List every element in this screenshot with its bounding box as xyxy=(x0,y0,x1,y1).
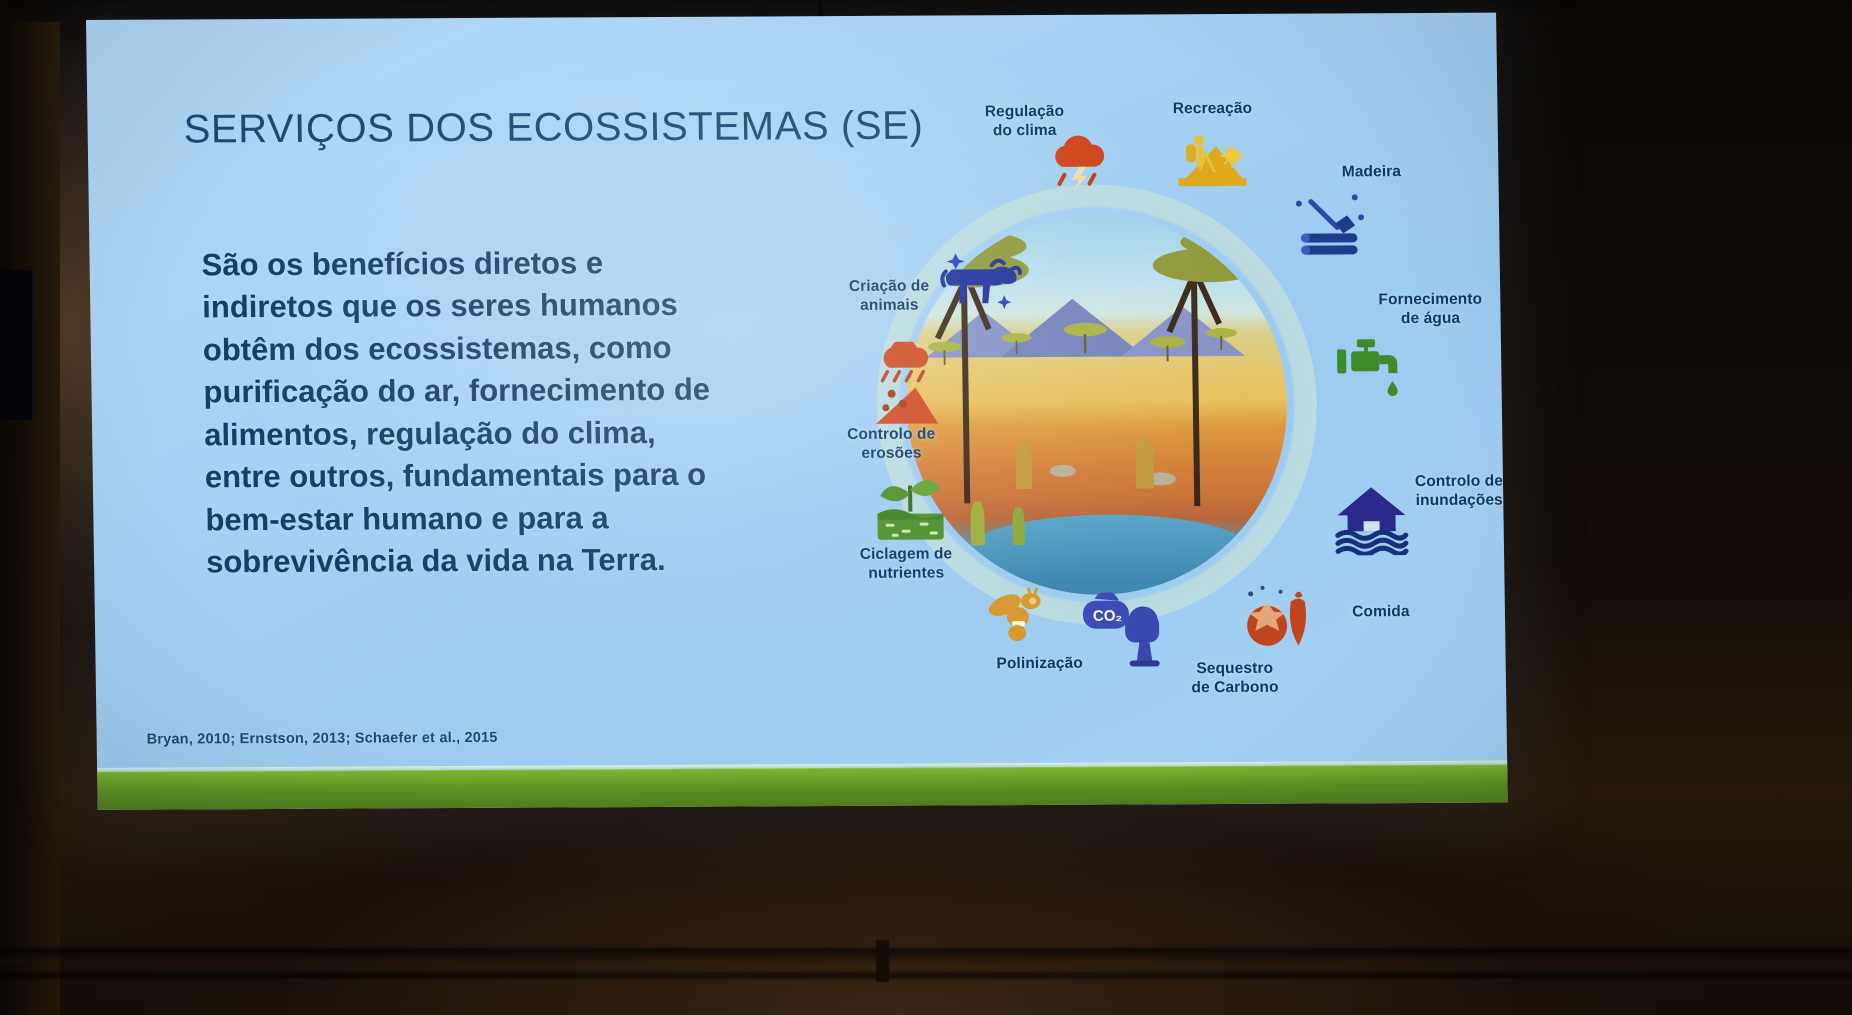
sprout-soil-icon xyxy=(873,471,948,541)
ecosystem-services-diagram: Regulação do clima Recreação xyxy=(727,83,1497,767)
faucet-icon xyxy=(1335,333,1408,397)
rain-erosion-icon xyxy=(871,341,948,425)
wall-left-panel xyxy=(0,0,60,1015)
projection-room: SERVIÇOS DOS ECOSSISTEMAS (SE) São os be… xyxy=(0,0,1852,1015)
projection-screen: SERVIÇOS DOS ECOSSISTEMAS (SE) São os be… xyxy=(86,13,1508,810)
label-recreacao: Recreação xyxy=(1157,100,1267,119)
label-ciclagem-de-nutrientes: Ciclagem de nutrientes xyxy=(842,545,971,583)
label-controlo-de-erosoes: Controlo de erosões xyxy=(830,425,953,463)
flooded-house-icon xyxy=(1333,483,1410,555)
vegetables-icon xyxy=(1242,582,1315,650)
label-polinizacao: Polinização xyxy=(980,655,1100,675)
bee-icon xyxy=(984,583,1055,645)
label-controlo-de-inundacoes: Controlo de inundações xyxy=(1395,472,1508,510)
grass-tuft xyxy=(1135,436,1154,488)
label-criacao-de-animais: Criação de animais xyxy=(828,277,951,315)
citation-text: Bryan, 2010; Ernstson, 2013; Schaefer et… xyxy=(147,730,498,748)
presentation-slide: SERVIÇOS DOS ECOSSISTEMAS (SE) São os be… xyxy=(86,13,1508,810)
label-sequestro-de-carbono: Sequestro de Carbono xyxy=(1172,660,1299,698)
slide-body-text: São os benefícios diretos e indiretos qu… xyxy=(201,242,726,584)
label-madeira: Madeira xyxy=(1316,163,1426,182)
label-comida: Comida xyxy=(1331,603,1431,622)
reed-tuft xyxy=(1012,507,1025,545)
ceiling-rail xyxy=(0,948,1852,964)
cow-icon xyxy=(938,251,1025,313)
reed-tuft xyxy=(970,501,985,545)
rock xyxy=(1050,465,1076,477)
screen-mount-clip xyxy=(876,940,889,982)
logs-axe-icon xyxy=(1295,191,1370,257)
ceiling-rail-shadow xyxy=(0,972,1852,979)
co2-label: CO₂ xyxy=(1093,608,1122,625)
water-pool xyxy=(968,514,1249,585)
label-fornecimento-de-agua: Fornecimento de água xyxy=(1366,291,1495,329)
wall-fixture xyxy=(0,270,34,420)
hiker-icon xyxy=(1176,128,1249,190)
slide-footer-bar xyxy=(97,765,1508,810)
grass-tuft xyxy=(1015,443,1032,489)
storm-cloud-icon xyxy=(1046,135,1113,193)
